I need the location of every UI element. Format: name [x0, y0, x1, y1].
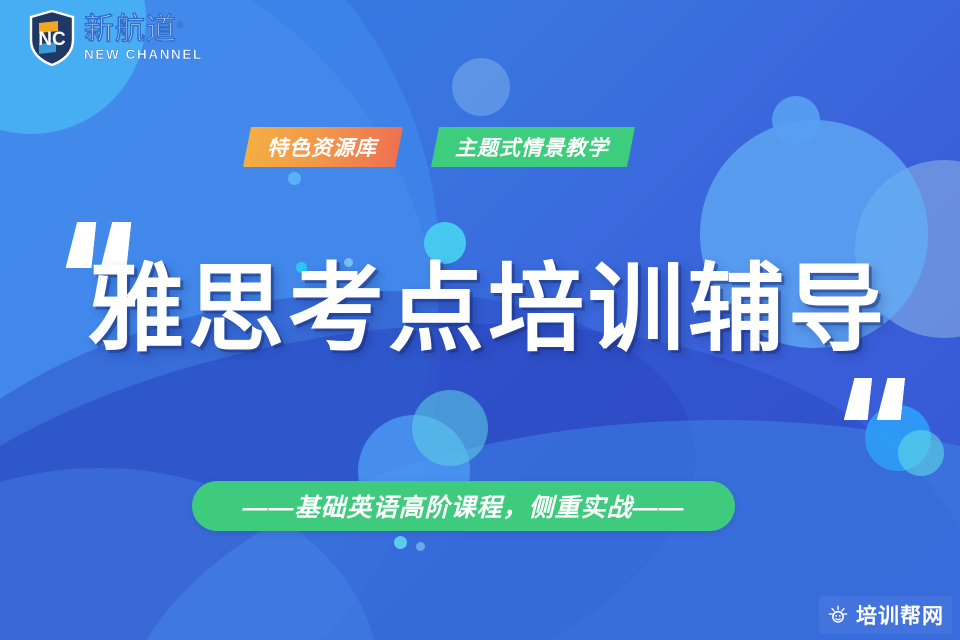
watermark-text: 培训帮网 — [856, 600, 944, 630]
logo-wordmark: 新航道® NEW CHANNEL — [84, 15, 203, 62]
tag-row: 特色资源库 主题式情景教学 — [243, 127, 635, 167]
bg-dot-bottom-1 — [394, 536, 407, 549]
sun-face-icon — [827, 604, 849, 626]
tag-thematic-teaching[interactable]: 主题式情景教学 — [431, 127, 635, 167]
bg-dot-bottom-2 — [416, 542, 425, 551]
subtitle-text: ——基础英语高阶课程，侧重实战—— — [242, 488, 684, 524]
logo-chinese-name: 新航道® — [84, 15, 203, 45]
quote-mark-stroke — [877, 378, 905, 420]
bg-circle-mid-cyan — [412, 390, 488, 466]
quote-mark-stroke — [844, 378, 872, 420]
registered-mark-icon: ® — [177, 20, 185, 30]
logo-english-name: NEW CHANNEL — [84, 48, 203, 62]
tag-feature-resource[interactable]: 特色资源库 — [243, 127, 403, 167]
bg-dot-small-1 — [288, 172, 301, 185]
promo-banner: NC 新航道® NEW CHANNEL 特色资源库 主题式情景教学 雅思考点培训… — [0, 0, 960, 640]
site-watermark: 培训帮网 — [819, 596, 952, 634]
subtitle-pill: ——基础英语高阶课程，侧重实战—— — [192, 481, 735, 531]
shield-icon: NC — [28, 10, 76, 66]
svg-text:NC: NC — [38, 29, 66, 50]
bg-circle-near-tag — [772, 96, 820, 144]
page-title: 雅思考点培训辅导 — [88, 262, 888, 358]
bg-circle-bottom-right-cyan — [898, 430, 944, 476]
bg-circle-upper-mid — [452, 58, 510, 116]
logo-chinese-text: 新航道 — [84, 13, 177, 46]
closing-quote-icon — [846, 378, 903, 420]
brand-logo[interactable]: NC 新航道® NEW CHANNEL — [28, 10, 203, 66]
